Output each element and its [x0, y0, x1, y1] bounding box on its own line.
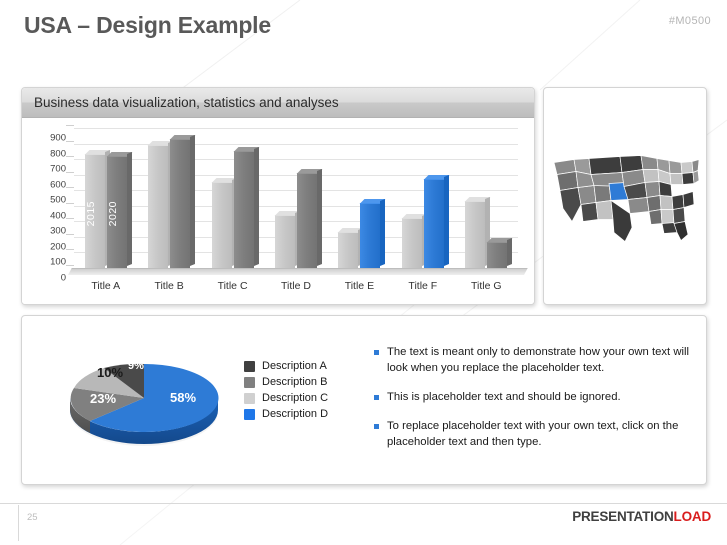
- y-tick-600: 600: [38, 179, 66, 190]
- legend-swatch: [244, 393, 255, 404]
- legend-item-3[interactable]: Description C: [244, 392, 328, 404]
- pie-label-9: 9%: [128, 360, 144, 372]
- pie-label-23: 23%: [90, 391, 116, 406]
- pie-label-10: 10%: [97, 365, 123, 380]
- page-number: 25: [27, 512, 38, 523]
- y-tick-900: 900: [38, 133, 66, 144]
- legend-item-4[interactable]: Description D: [244, 408, 328, 420]
- bar-title-d-2015[interactable]: [275, 215, 295, 268]
- bar-side: [317, 169, 322, 266]
- y-tick-200: 200: [38, 241, 66, 252]
- content-panel: 58% 23% 10% 9% Description ADescription …: [21, 315, 707, 485]
- bar-title-d-2020[interactable]: [297, 173, 317, 268]
- bar-face: [402, 218, 422, 268]
- document-code: #M0500: [669, 15, 711, 27]
- tick-stub-900: [66, 125, 74, 126]
- legend-swatch: [244, 361, 255, 372]
- bar-title-e-2020[interactable]: [360, 203, 380, 268]
- tick-stub-200: [66, 234, 74, 235]
- footer-divider: [0, 503, 727, 504]
- chart-panel: Business data visualization, statistics …: [21, 87, 535, 305]
- y-tick-100: 100: [38, 257, 66, 268]
- bar-group-title-a: 20152020: [74, 128, 137, 268]
- bar-title-b-2015[interactable]: [148, 145, 168, 268]
- bar-group-title-g: [455, 128, 518, 268]
- bullet-marker-icon: [374, 350, 379, 355]
- bar-face: [487, 242, 507, 268]
- bar-title-a-2020[interactable]: 2020: [107, 156, 127, 268]
- bar-title-f-2020[interactable]: [424, 179, 444, 268]
- y-tick-400: 400: [38, 210, 66, 221]
- legend-label: Description A: [262, 360, 327, 372]
- brand-part-1: PRESENTATION: [572, 509, 673, 524]
- tick-stub-100: [66, 249, 74, 250]
- bar-face: [148, 145, 168, 268]
- bar-title-f-2015[interactable]: [402, 218, 422, 268]
- series-label-2020: 2020: [107, 201, 127, 226]
- y-tick-300: 300: [38, 226, 66, 237]
- bullet-text: This is placeholder text and should be i…: [387, 389, 621, 405]
- bar-face: [297, 173, 317, 268]
- pie-label-58: 58%: [170, 390, 196, 405]
- bullet-marker-icon: [374, 395, 379, 400]
- tick-stub-800: [66, 141, 74, 142]
- bar-face: [234, 151, 254, 268]
- x-axis-labels: Title ATitle BTitle CTitle DTitle ETitle…: [74, 280, 518, 292]
- legend-label: Description B: [262, 376, 327, 388]
- x-label-title-a: Title A: [74, 280, 137, 292]
- bar-face: [465, 201, 485, 268]
- bar-face: [212, 182, 232, 268]
- x-label-title-b: Title B: [137, 280, 200, 292]
- y-axis-labels: 9008007006005004003002001000: [30, 128, 66, 268]
- bar-group-title-c: [201, 128, 264, 268]
- bar-side: [444, 175, 449, 266]
- usa-map-icon: [550, 146, 700, 246]
- map-panel: [543, 87, 707, 305]
- bullet-text: The text is meant only to demonstrate ho…: [387, 344, 696, 376]
- bar-title-g-2015[interactable]: [465, 201, 485, 268]
- tick-stub-600: [66, 172, 74, 173]
- legend-label: Description C: [262, 392, 328, 404]
- tick-stub-300: [66, 218, 74, 219]
- bar-title-e-2015[interactable]: [338, 232, 358, 268]
- bar-group-title-d: [264, 128, 327, 268]
- brand-part-2: LOAD: [674, 509, 711, 524]
- tick-stub-0: [66, 265, 74, 266]
- bullet-item-1: The text is meant only to demonstrate ho…: [374, 344, 696, 376]
- bullet-marker-icon: [374, 424, 379, 429]
- bar-groups: 20152020: [74, 128, 518, 268]
- slide: USA – Design Example #M0500 Business dat…: [0, 0, 727, 545]
- bar-group-title-e: [328, 128, 391, 268]
- tick-stub-500: [66, 187, 74, 188]
- bullet-list: The text is meant only to demonstrate ho…: [374, 344, 696, 463]
- bar-face: [170, 139, 190, 268]
- y-tick-700: 700: [38, 164, 66, 175]
- bar-side: [127, 152, 132, 266]
- bar-face: [275, 215, 295, 268]
- tick-stub-700: [66, 156, 74, 157]
- bullet-item-3: To replace placeholder text with your ow…: [374, 418, 696, 450]
- x-label-title-g: Title G: [455, 280, 518, 292]
- legend-item-2[interactable]: Description B: [244, 376, 328, 388]
- pie-chart: 58% 23% 10% 9%: [44, 332, 244, 462]
- footer-tick: [18, 505, 19, 541]
- legend-swatch: [244, 377, 255, 388]
- bar-side: [254, 147, 259, 266]
- bar-title-b-2020[interactable]: [170, 139, 190, 268]
- legend-label: Description D: [262, 408, 328, 420]
- bar-face: [360, 203, 380, 268]
- y-tick-500: 500: [38, 195, 66, 206]
- bar-group-title-b: [137, 128, 200, 268]
- brand-logo: PRESENTATIONLOAD: [572, 509, 711, 524]
- x-label-title-f: Title F: [391, 280, 454, 292]
- bar-side: [190, 135, 195, 266]
- bar-face: [424, 179, 444, 268]
- chart-panel-title: Business data visualization, statistics …: [34, 95, 339, 110]
- x-label-title-c: Title C: [201, 280, 264, 292]
- tick-stub-400: [66, 203, 74, 204]
- chart-floor: [68, 268, 528, 275]
- y-tick-800: 800: [38, 148, 66, 159]
- bar-title-c-2015[interactable]: [212, 182, 232, 268]
- pie-legend: Description ADescription BDescription CD…: [244, 360, 328, 424]
- x-label-title-d: Title D: [264, 280, 327, 292]
- bar-group-title-f: [391, 128, 454, 268]
- bar-chart: 9008007006005004003002001000 20152020 Ti…: [22, 118, 534, 305]
- bullet-text: To replace placeholder text with your ow…: [387, 418, 696, 450]
- legend-item-1[interactable]: Description A: [244, 360, 328, 372]
- y-tick-0: 0: [38, 273, 66, 284]
- chart-panel-header: Business data visualization, statistics …: [22, 88, 534, 118]
- page-title: USA – Design Example: [24, 12, 271, 39]
- usa-map[interactable]: [544, 88, 706, 304]
- pie-chart-svg: 58% 23% 10% 9%: [44, 332, 244, 462]
- legend-swatch: [244, 409, 255, 420]
- bar-side: [380, 199, 385, 266]
- bar-face: [338, 232, 358, 268]
- bar-side: [507, 238, 512, 266]
- bar-title-a-2015[interactable]: 2015: [85, 154, 105, 268]
- bar-title-g-2020[interactable]: [487, 242, 507, 268]
- series-label-2015: 2015: [85, 201, 105, 226]
- bullet-item-2: This is placeholder text and should be i…: [374, 389, 696, 405]
- x-label-title-e: Title E: [328, 280, 391, 292]
- bar-title-c-2020[interactable]: [234, 151, 254, 268]
